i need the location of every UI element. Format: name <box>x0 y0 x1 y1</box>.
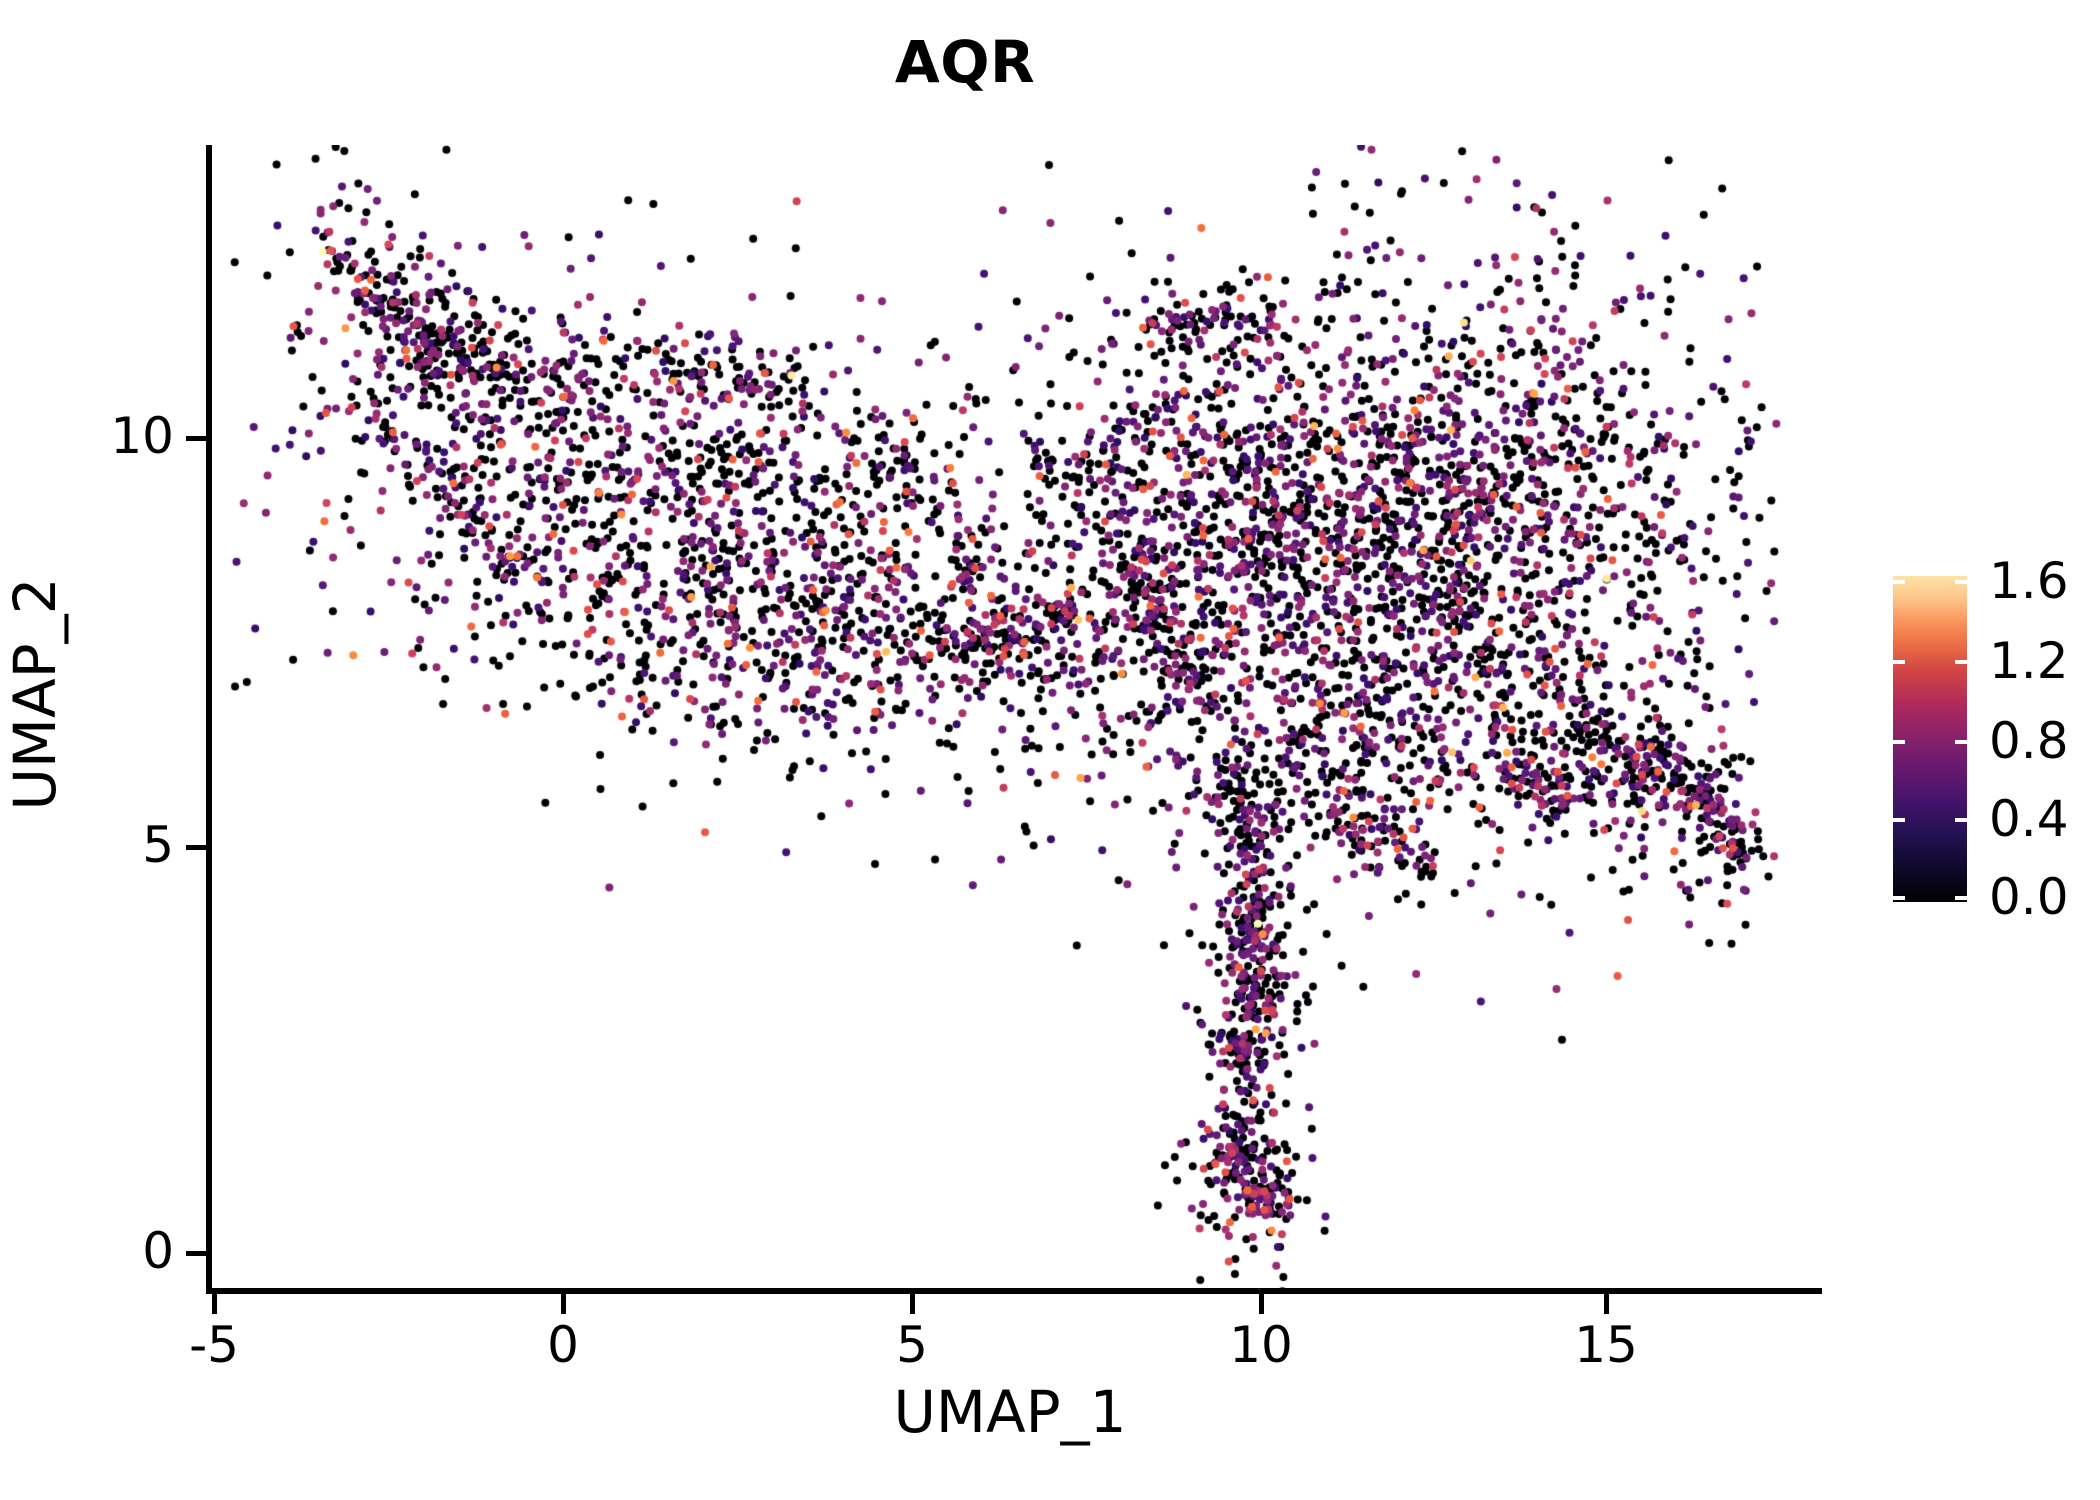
scatter-points-canvas <box>210 145 1820 1290</box>
colorbar-tick-0p4-r <box>1955 818 1967 822</box>
colorbar-tick-0p8 <box>1893 740 1905 744</box>
y-axis-label: UMAP_2 <box>1 544 69 844</box>
x-tick-label-minus5: -5 <box>114 1320 314 1370</box>
x-axis-label: UMAP_1 <box>660 1378 1360 1446</box>
colorbar-label-0p8: 0.8 <box>1989 716 2069 766</box>
x-tick-mark-10 <box>1259 1294 1264 1314</box>
x-tick-mark-5 <box>910 1294 915 1314</box>
x-tick-label-15: 15 <box>1506 1320 1706 1370</box>
x-tick-label-0: 0 <box>463 1320 663 1370</box>
colorbar: 1.6 1.2 0.8 0.4 0.0 <box>1893 576 1967 902</box>
page-title: AQR <box>0 28 2100 96</box>
colorbar-tick-1p6 <box>1893 580 1905 584</box>
colorbar-tick-0p4 <box>1893 818 1905 822</box>
x-tick-label-10: 10 <box>1161 1320 1361 1370</box>
y-tick-label-0: 0 <box>56 1226 174 1276</box>
y-tick-label-10: 10 <box>56 411 174 461</box>
colorbar-gradient <box>1893 576 1967 902</box>
x-tick-mark-15 <box>1604 1294 1609 1314</box>
y-tick-mark-10 <box>186 436 206 441</box>
y-tick-mark-0 <box>186 1251 206 1256</box>
colorbar-tick-1p2-r <box>1955 660 1967 664</box>
plot-title-text: AQR <box>895 28 1035 96</box>
colorbar-tick-0p0-r <box>1955 896 1967 900</box>
colorbar-label-0p0: 0.0 <box>1989 872 2069 922</box>
colorbar-tick-0p0 <box>1893 896 1905 900</box>
colorbar-tick-1p2 <box>1893 660 1905 664</box>
x-tick-mark-minus5 <box>212 1294 217 1314</box>
colorbar-tick-1p6-r <box>1955 580 1967 584</box>
colorbar-label-1p6: 1.6 <box>1989 556 2069 606</box>
colorbar-label-0p4: 0.4 <box>1989 794 2069 844</box>
x-tick-mark-0 <box>561 1294 566 1314</box>
colorbar-label-1p2: 1.2 <box>1989 636 2069 686</box>
plot-area <box>210 145 1820 1290</box>
umap-feature-plot: AQR 10 5 0 -5 0 5 10 15 UMAP_1 UMAP_2 1.… <box>0 0 2100 1500</box>
y-tick-label-5: 5 <box>56 820 174 870</box>
y-tick-mark-5 <box>186 845 206 850</box>
x-tick-label-5: 5 <box>812 1320 1012 1370</box>
colorbar-tick-0p8-r <box>1955 740 1967 744</box>
